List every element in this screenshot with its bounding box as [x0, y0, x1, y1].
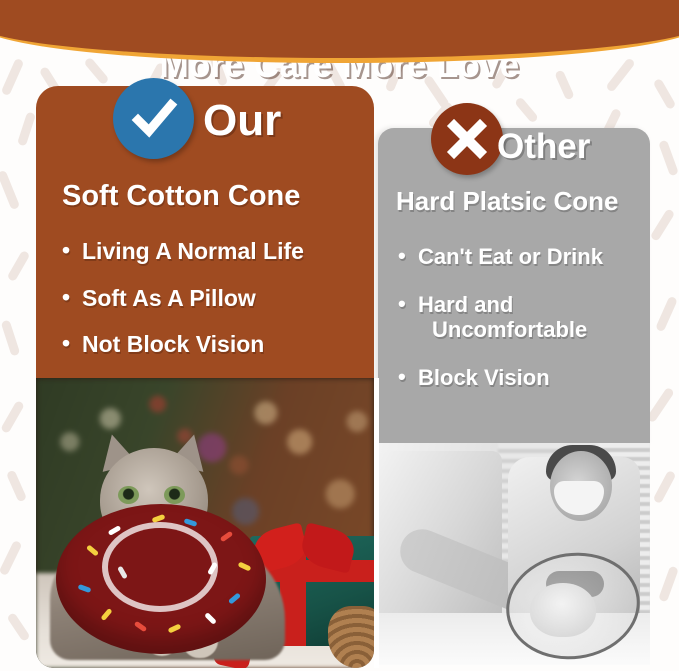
other-bullet-text-continued: Uncomfortable	[418, 317, 648, 343]
cat-eye	[118, 486, 139, 504]
other-bullet-text: Block Vision	[418, 365, 550, 390]
other-drawback-list: Can't Eat or Drink Hard and Uncomfortabl…	[398, 244, 648, 412]
our-bullet-text: Living A Normal Life	[82, 238, 304, 264]
other-label: Other	[497, 127, 590, 167]
other-bullet-text: Can't Eat or Drink	[418, 244, 603, 269]
cat-eye	[164, 486, 185, 504]
list-item: Living A Normal Life	[62, 238, 362, 265]
other-product-photo	[378, 443, 650, 665]
photo-divider	[374, 378, 379, 668]
check-circle-icon	[113, 78, 194, 159]
other-bullet-text: Hard and	[418, 292, 513, 317]
our-bullet-text: Not Block Vision	[82, 331, 264, 357]
our-subtitle: Soft Cotton Cone	[62, 180, 362, 213]
our-benefit-list: Living A Normal Life Soft As A Pillow No…	[62, 238, 362, 378]
our-product-photo	[36, 378, 374, 668]
other-subtitle: Hard Platsic Cone	[396, 186, 656, 217]
list-item: Block Vision	[398, 365, 648, 391]
list-item: Soft As A Pillow	[62, 285, 362, 312]
our-label: Our	[203, 96, 281, 146]
list-item: Not Block Vision	[62, 331, 362, 358]
our-bullet-text: Soft As A Pillow	[82, 285, 256, 311]
product-comparison-infographic: More Care More Love Our Soft Cotton Cone…	[0, 0, 679, 671]
list-item: Hard and Uncomfortable	[398, 292, 648, 343]
donut-collar-opening	[108, 528, 212, 606]
list-item: Can't Eat or Drink	[398, 244, 648, 270]
x-circle-icon	[431, 103, 503, 175]
